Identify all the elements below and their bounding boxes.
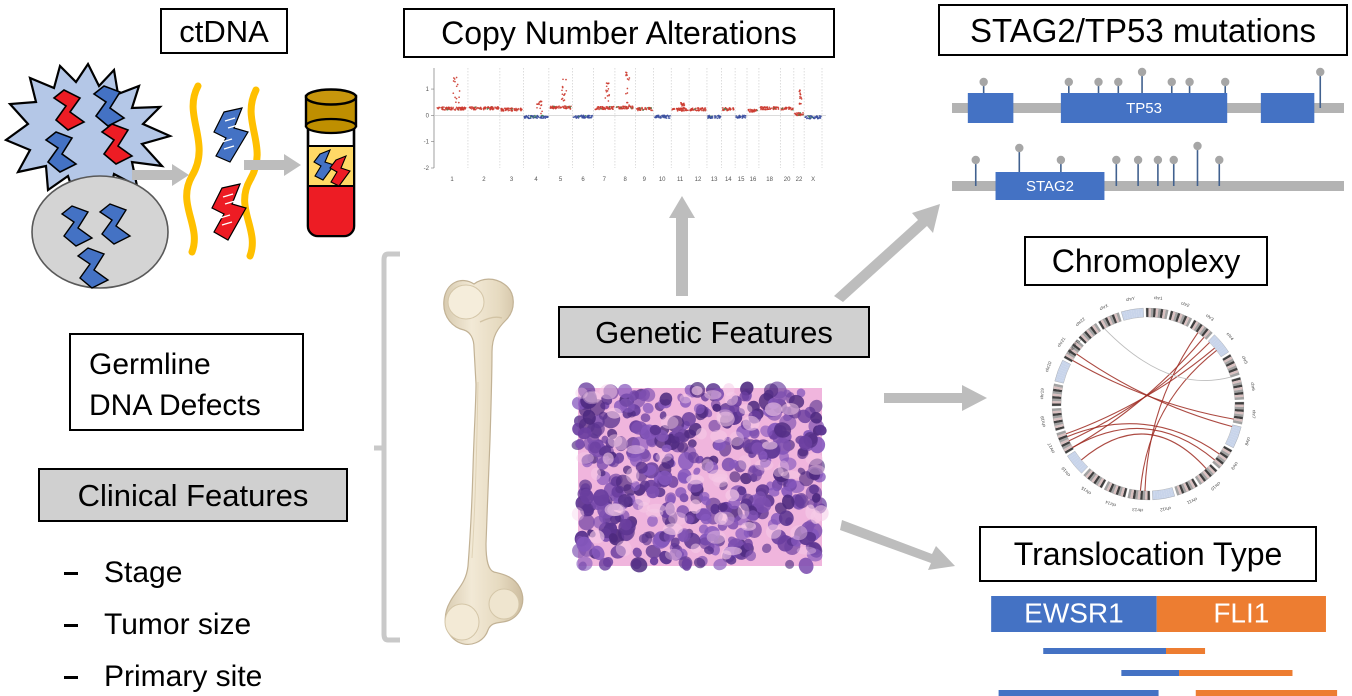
svg-text:18: 18	[766, 177, 773, 183]
list-item: Primary site	[64, 660, 262, 694]
clinical-item-label: Stage	[104, 556, 182, 590]
bullet-dash-icon	[64, 676, 78, 679]
panel-title-chromoplexy: Chromoplexy	[1024, 236, 1268, 286]
arrow-to-mutations	[832, 196, 942, 300]
svg-text:15: 15	[738, 177, 745, 183]
svg-text:chr10: chr10	[1209, 481, 1221, 492]
circos-plot-chromoplexy: chr1chr2chr3chr4chr5chr6chr7chr8chr9chr1…	[1030, 292, 1266, 520]
bullet-dash-icon	[64, 572, 78, 575]
list-item: Tumor size	[64, 608, 251, 642]
svg-text:chr4: chr4	[1226, 331, 1236, 341]
svg-text:2: 2	[482, 177, 486, 183]
list-item: Stage	[64, 556, 182, 590]
germline-line-1: Germline	[89, 345, 302, 386]
svg-text:chr1: chr1	[1154, 295, 1164, 301]
svg-text:12: 12	[695, 177, 702, 183]
svg-text:chr16: chr16	[1060, 465, 1071, 477]
svg-text:11: 11	[677, 177, 684, 183]
svg-text:chr6: chr6	[1250, 382, 1256, 392]
lollipop-diagram-tp53: TP53	[950, 62, 1346, 136]
svg-text:chr11: chr11	[1186, 496, 1198, 505]
svg-text:chr19: chr19	[1039, 388, 1045, 400]
svg-text:chr3: chr3	[1205, 313, 1215, 322]
panel-title-cna: Copy Number Alterations	[403, 8, 835, 58]
svg-text:chr15: chr15	[1080, 485, 1092, 496]
panel-title-ctdna: ctDNA	[160, 8, 288, 54]
svg-text:chr17: chr17	[1046, 442, 1055, 455]
svg-text:-2: -2	[424, 166, 430, 172]
figure-canvas: ctDNA	[0, 0, 1352, 696]
svg-text:10: 10	[659, 177, 666, 183]
svg-text:chr2: chr2	[1180, 300, 1190, 308]
svg-text:1: 1	[450, 177, 454, 183]
bullet-dash-icon	[64, 624, 78, 627]
svg-text:13: 13	[711, 177, 718, 183]
clinical-item-label: Tumor size	[104, 608, 251, 642]
svg-text:16: 16	[750, 177, 757, 183]
svg-text:TP53: TP53	[1126, 100, 1162, 117]
svg-text:chr22: chr22	[1074, 316, 1086, 327]
lollipop-diagram-stag2: STAG2	[950, 138, 1346, 212]
svg-text:chrY: chrY	[1126, 296, 1136, 302]
histology-he-slide-photo	[578, 388, 822, 566]
svg-text:STAG2: STAG2	[1026, 178, 1074, 195]
arrow-to-translocation	[840, 518, 956, 574]
svg-text:8: 8	[624, 177, 628, 183]
clinical-item-label: Primary site	[104, 660, 262, 694]
arrow-to-cna	[668, 196, 696, 296]
panel-title-mutations: STAG2/TP53 mutations	[938, 4, 1348, 56]
svg-text:-1: -1	[424, 140, 430, 146]
panel-title-translocation: Translocation Type	[979, 526, 1317, 582]
svg-text:chr12: chr12	[1159, 506, 1171, 513]
arrow-cfdna-to-tube	[244, 152, 302, 178]
germline-line-2: DNA Defects	[89, 386, 302, 427]
svg-text:22: 22	[796, 177, 803, 183]
svg-text:chr14: chr14	[1104, 499, 1117, 508]
svg-text:chr13: chr13	[1132, 507, 1144, 513]
panel-title-germline: Germline DNA Defects	[69, 333, 304, 431]
translocation-fusion-diagram: EWSR1FLI1	[980, 592, 1352, 696]
svg-text:3: 3	[510, 177, 514, 183]
svg-text:7: 7	[603, 177, 607, 183]
grouping-bracket	[378, 252, 404, 642]
svg-text:chr5: chr5	[1241, 355, 1249, 365]
arrow-to-chromoplexy	[884, 384, 988, 412]
svg-text:4: 4	[534, 177, 538, 183]
femur-bone-photo	[432, 272, 542, 656]
svg-text:X: X	[811, 177, 815, 183]
svg-text:chr18: chr18	[1039, 415, 1046, 427]
svg-text:1: 1	[426, 87, 430, 93]
svg-text:chr21: chr21	[1056, 336, 1067, 348]
panel-title-genetic: Genetic Features	[558, 306, 870, 358]
svg-text:0: 0	[426, 113, 430, 119]
svg-text:6: 6	[581, 177, 585, 183]
blood-collection-tube-icon	[296, 88, 368, 248]
svg-text:14: 14	[725, 177, 732, 183]
panel-title-clinical: Clinical Features	[38, 468, 348, 522]
svg-text:9: 9	[643, 177, 647, 183]
normal-cell-icon	[30, 170, 170, 290]
svg-text:chr7: chr7	[1251, 410, 1257, 420]
svg-text:chrX: chrX	[1099, 303, 1109, 311]
svg-text:20: 20	[784, 177, 791, 183]
svg-text:chr8: chr8	[1244, 436, 1252, 446]
cna-scatter-plot: 10-1-212345678910111213141516182022X	[412, 62, 830, 190]
svg-text:chr20: chr20	[1044, 360, 1053, 373]
svg-text:chr9: chr9	[1230, 461, 1239, 471]
svg-text:EWSR1: EWSR1	[1024, 597, 1124, 628]
svg-text:FLI1: FLI1	[1213, 597, 1269, 628]
svg-text:5: 5	[559, 177, 563, 183]
